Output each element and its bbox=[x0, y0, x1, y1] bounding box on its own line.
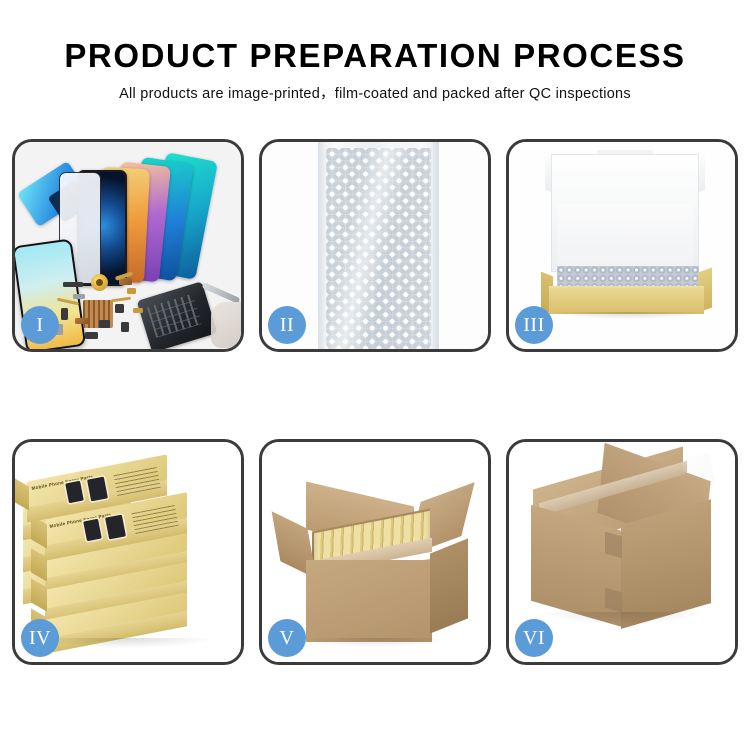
stacked-box-f2 bbox=[45, 576, 187, 595]
part-chip-7 bbox=[75, 318, 89, 324]
part-chip-12 bbox=[85, 332, 98, 339]
header: PRODUCT PREPARATION PROCESS All products… bbox=[0, 0, 750, 120]
carton-front-face bbox=[306, 560, 432, 642]
part-chip-11 bbox=[133, 308, 143, 313]
step-badge-1: I bbox=[21, 306, 59, 344]
carton-side-face bbox=[430, 538, 468, 633]
hand-icon bbox=[211, 302, 241, 348]
step-badge-4: IV bbox=[21, 619, 59, 657]
drop-shadow bbox=[37, 638, 213, 648]
part-chip-10 bbox=[121, 322, 129, 332]
stacked-box-f3 bbox=[45, 606, 187, 625]
part-chip-6 bbox=[115, 304, 124, 313]
drop-shadow bbox=[543, 612, 703, 624]
step-panel-3: III bbox=[506, 139, 738, 352]
wrap-highlight bbox=[320, 142, 438, 349]
step-panel-6: VI bbox=[506, 439, 738, 665]
part-chip-5 bbox=[61, 308, 68, 320]
box-front-kraft bbox=[549, 290, 704, 314]
part-chip-4 bbox=[73, 294, 85, 299]
step-panel-4: Mobile Phone Spare Parts Mobile Phone Sp… bbox=[12, 439, 244, 665]
step-5-image: V bbox=[262, 442, 488, 662]
product-preparation-infographic: PRODUCT PREPARATION PROCESS All products… bbox=[0, 0, 750, 750]
drop-shadow bbox=[553, 312, 703, 319]
foam-sheet bbox=[557, 204, 693, 268]
step-badge-5: V bbox=[268, 619, 306, 657]
step-4-image: Mobile Phone Spare Parts Mobile Phone Sp… bbox=[15, 442, 241, 662]
step-6-image: VI bbox=[509, 442, 735, 662]
step-badge-2: II bbox=[268, 306, 306, 344]
step-badge-3: III bbox=[515, 306, 553, 344]
step-panel-5: V bbox=[259, 439, 491, 665]
step-2-image: II bbox=[262, 142, 488, 349]
steps-grid: I II bbox=[0, 133, 750, 693]
page-title: PRODUCT PREPARATION PROCESS bbox=[0, 36, 750, 76]
page-subtitle: All products are image-printed，film-coat… bbox=[0, 84, 750, 104]
step-panel-1: I bbox=[12, 139, 244, 352]
carton-hand-hole-top bbox=[605, 532, 622, 559]
drop-shadow bbox=[308, 638, 444, 647]
step-panel-2: II bbox=[259, 139, 491, 352]
part-chip-3 bbox=[127, 288, 136, 294]
step-3-image: III bbox=[509, 142, 735, 349]
part-chip-1 bbox=[63, 282, 83, 287]
part-chip-8 bbox=[99, 320, 110, 328]
step-1-image: I bbox=[15, 142, 241, 349]
speaker-coil-icon bbox=[91, 274, 108, 291]
step-badge-6: VI bbox=[515, 619, 553, 657]
